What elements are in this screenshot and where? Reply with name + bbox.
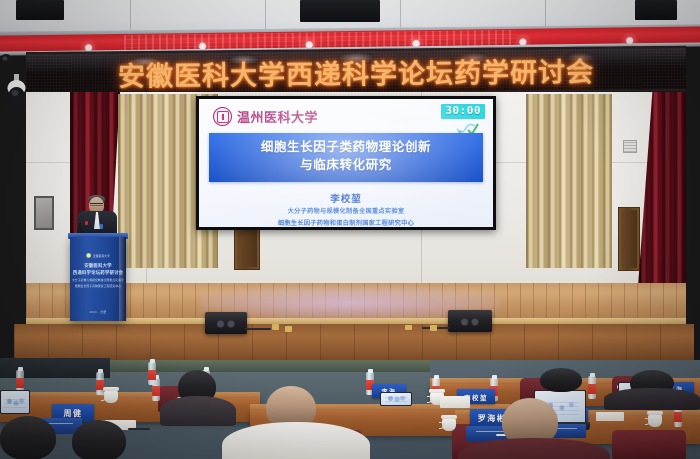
stage-right-door[interactable] — [618, 207, 640, 271]
audience-member-shoulders — [222, 422, 370, 459]
printed-papers — [440, 396, 470, 408]
audience-chair[interactable] — [612, 430, 686, 459]
lectern-emblem: 安徽医科大学 — [86, 253, 110, 258]
speaker-cable — [245, 328, 271, 330]
nameplate-text: 周健 — [64, 408, 83, 419]
led-banner-text: 安徽医科大学西递科学论坛药学研讨会 — [26, 49, 686, 94]
ceiling-panel — [16, 0, 64, 20]
pen — [128, 428, 150, 430]
water-bottle — [588, 376, 596, 399]
teacup-with-lid — [442, 418, 456, 431]
laptop-screen[interactable] — [380, 392, 412, 406]
lanyard — [100, 224, 103, 229]
university-branding: 温州医科大学 — [213, 107, 318, 126]
floor-tape-marker — [285, 326, 292, 332]
air-vent-grille — [623, 140, 637, 153]
lectern-line-4: 细胞生长因子药物国家工程研究中心 — [70, 284, 126, 288]
audience-member-shoulders — [160, 396, 236, 426]
teacup-with-lid — [648, 414, 662, 427]
teacup-with-lid — [104, 390, 118, 403]
audience-member-shoulders — [604, 388, 700, 410]
countdown-timer: 30:00 — [441, 104, 485, 119]
right-gold-curtain — [526, 94, 612, 268]
floor-tape-marker — [272, 324, 279, 330]
lectern-emblem-text: 安徽医科大学 — [93, 254, 110, 258]
slide-title-line-1: 细胞生长因子类药物理论创新 — [213, 139, 479, 157]
microphone-capsule — [77, 219, 81, 223]
lectern: 安徽医科大学 安徽医科大学 西递科学论坛药学研讨会 大分子药物与规模化制备全国重… — [70, 237, 126, 321]
ceiling-panel — [300, 0, 380, 22]
lectern-line-2: 西递科学论坛药学研讨会 — [70, 270, 126, 276]
audience-member-head — [72, 420, 126, 459]
wall-artwork-frame — [34, 196, 54, 230]
slide-title-band: 细胞生长因子类药物理论创新 与临床转化研究 — [209, 133, 483, 182]
lectern-footer: 2024 · 合肥 — [89, 310, 106, 314]
stage-monitor-speaker — [448, 310, 492, 332]
dome-security-camera-icon — [0, 52, 14, 66]
ceiling-panel — [635, 0, 677, 20]
water-bottle — [96, 372, 104, 395]
floor-tape-marker — [405, 325, 412, 330]
slide-affiliation-1: 大分子药物与规模化制备全国重点实验室 — [199, 206, 493, 215]
stage-front-panel — [14, 324, 694, 364]
slide-affiliation-2: 细胞生长因子药物和蛋白制剂国家工程研究中心 — [199, 218, 493, 227]
dome-security-camera-icon — [4, 74, 30, 108]
lapel-badge — [85, 221, 88, 225]
slide-title-line-2: 与临床转化研究 — [213, 157, 479, 175]
water-bottle — [148, 362, 156, 385]
printed-papers — [596, 412, 624, 421]
projection-screen: 温州医科大学 30:00 细胞生长因子类药物理论创新 与临床转化研究 李校堃 大… — [196, 96, 496, 230]
stage-monitor-speaker — [205, 312, 247, 334]
presentation-slide: 温州医科大学 30:00 细胞生长因子类药物理论创新 与临床转化研究 李校堃 大… — [199, 99, 493, 227]
audience-member-head — [0, 416, 56, 459]
laptop-screen[interactable] — [0, 390, 30, 414]
wenzhou-medical-university-seal-icon — [213, 107, 232, 126]
audience-member-head — [540, 368, 582, 392]
lectern-line-1: 安徽医科大学 — [70, 263, 126, 269]
right-stage-curtain — [638, 92, 686, 287]
university-name: 温州医科大学 — [237, 107, 318, 126]
lectern-line-3: 大分子药物与规模化制备全国重点实验室 — [70, 278, 126, 282]
ahmu-emblem-icon — [86, 253, 91, 258]
floor-tape-marker — [430, 325, 437, 331]
slide-speaker-name: 李校堃 — [199, 191, 493, 205]
conference-hall-photo: 安徽医科大学西递科学论坛药学研讨会 — [0, 0, 700, 459]
led-banner-display: 安徽医科大学西递科学论坛药学研讨会 — [26, 46, 686, 97]
eyeglasses-icon — [90, 203, 103, 206]
